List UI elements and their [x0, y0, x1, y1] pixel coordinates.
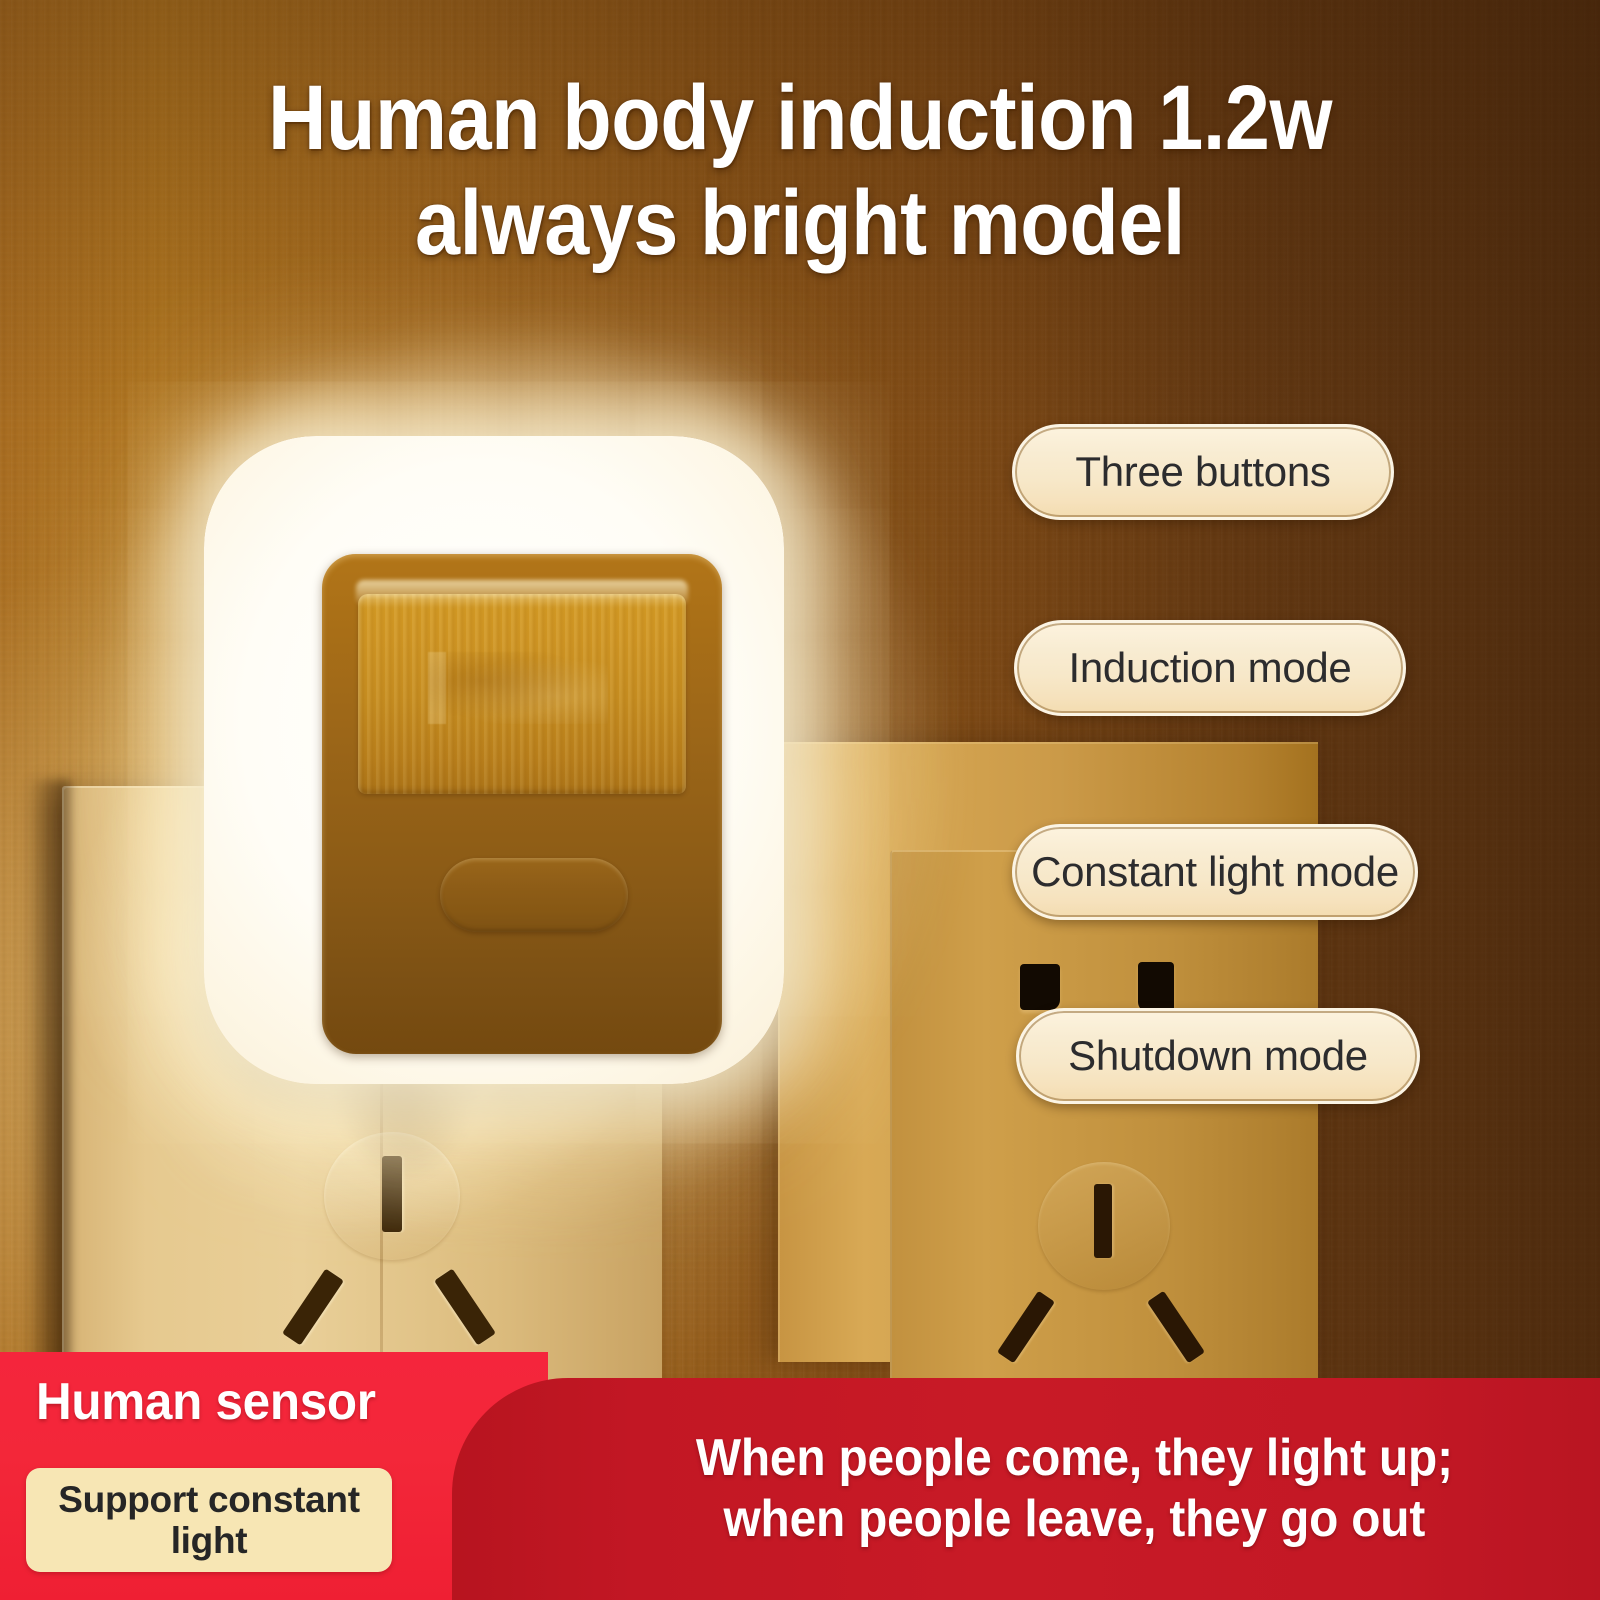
banner-right-line-1: When people come, they light up; — [696, 1428, 1453, 1489]
product-marketing-image: Human body induction 1.2w always bright … — [0, 0, 1600, 1600]
banner-right-line-2: when people leave, they go out — [723, 1489, 1425, 1550]
socket-right-flat-hole-left — [1020, 964, 1060, 1010]
support-box-line-2: light — [171, 1520, 248, 1561]
lens-top-highlight — [356, 580, 688, 606]
mode-button[interactable] — [440, 858, 628, 932]
support-box-line-1: Support constant — [58, 1479, 359, 1520]
night-light-sensor-module — [322, 554, 722, 1054]
feature-badge-three-buttons[interactable]: Three buttons — [1012, 424, 1394, 520]
banner-left-heading: Human sensor — [36, 1372, 376, 1432]
socket-left-angled-hole-left — [282, 1269, 344, 1346]
socket-left-edge-shadow — [28, 780, 70, 1400]
socket-left-angled-hole-right — [434, 1269, 496, 1346]
banner-right-red-block: When people come, they light up; when pe… — [452, 1378, 1600, 1600]
pir-sensor-lens-icon — [358, 594, 686, 794]
socket-right-flat-hole-right — [1138, 962, 1174, 1012]
feature-badge-induction-mode[interactable]: Induction mode — [1014, 620, 1406, 716]
socket-right-plate — [890, 850, 1318, 1382]
feature-badge-constant-light-mode[interactable]: Constant light mode — [1012, 824, 1418, 920]
led-night-light — [204, 436, 784, 1084]
lens-embossed-marking — [428, 652, 608, 724]
support-constant-light-box: Support constant light — [26, 1468, 392, 1572]
socket-right-ground-hole — [1094, 1184, 1112, 1258]
feature-badge-shutdown-mode[interactable]: Shutdown mode — [1016, 1008, 1420, 1104]
support-box-text: Support constant light — [36, 1479, 382, 1562]
